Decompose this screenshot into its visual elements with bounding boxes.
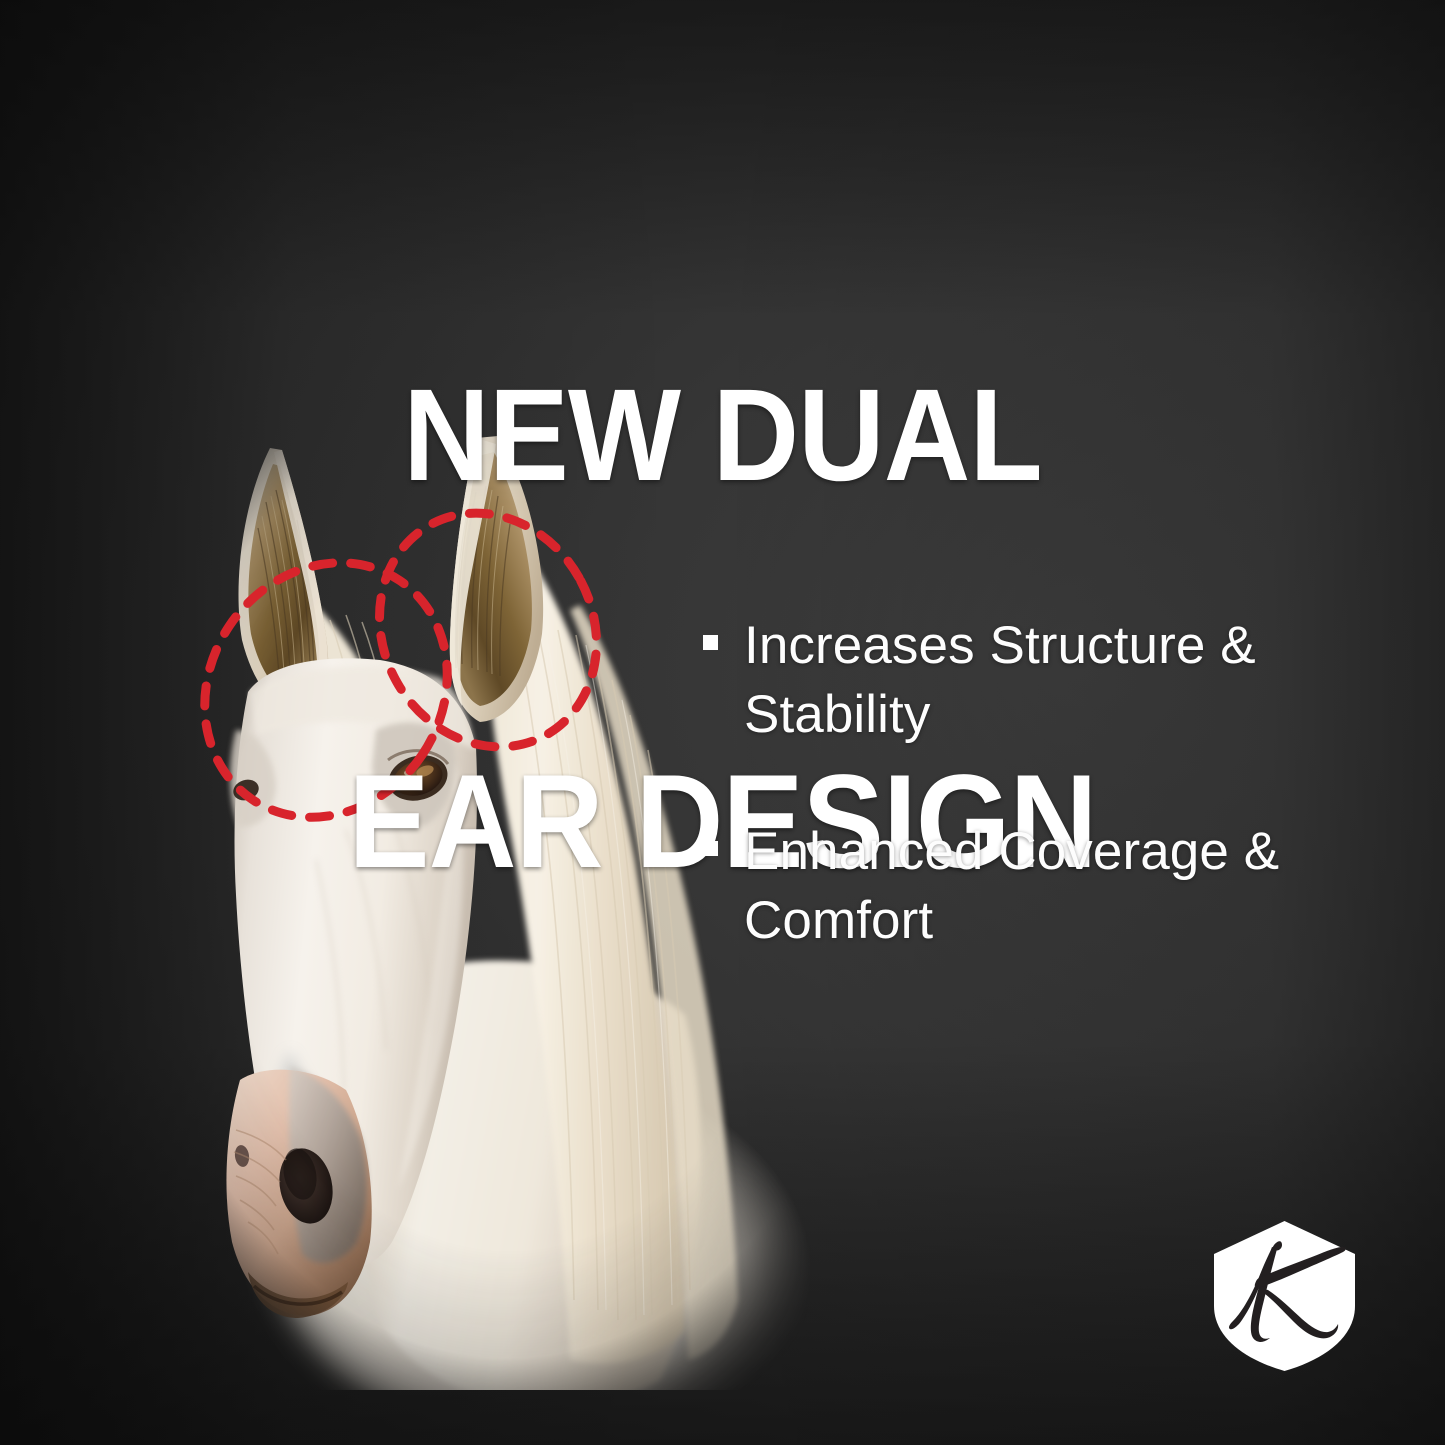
list-item: Increases Structure & Stability	[700, 612, 1360, 750]
square-bullet-icon	[703, 841, 718, 856]
brand-logo	[1211, 1220, 1358, 1372]
list-item: Enhanced Coverage & Comfort	[700, 818, 1360, 956]
marketing-graphic: NEW DUAL EAR DESIGN Increases Structure …	[0, 0, 1445, 1445]
list-item-label: Increases Structure & Stability	[744, 616, 1256, 744]
list-item-label: Enhanced Coverage & Comfort	[744, 822, 1279, 950]
shield-icon	[1214, 1221, 1355, 1371]
headline-line-1: NEW DUAL	[61, 370, 1383, 499]
square-bullet-icon	[703, 635, 718, 650]
feature-list: Increases Structure & Stability Enhanced…	[700, 612, 1360, 956]
